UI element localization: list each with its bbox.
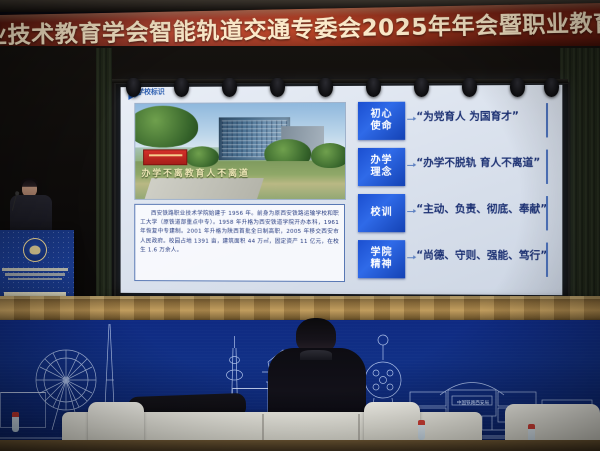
quote-text: “尚德、守则、强能、笃行” [416,248,546,263]
list-item: 学院 精神 “尚德、守则、强能、笃行” [358,238,550,285]
podium-text-line [2,268,68,271]
tag-line-1: 学院 [371,247,393,259]
stage-lamp [544,78,559,97]
list-item: 办学 理念 “办学不脱轨 育人不离道” [358,146,550,192]
tag-box: 学院 精神 [358,240,405,278]
stage-lamp [510,78,525,97]
side-table [0,392,46,428]
accent-line [546,243,548,277]
stage-lamp [414,78,429,97]
water-bottle [418,420,425,440]
photo-tree [185,146,218,167]
photo-tree [311,143,346,168]
campus-photo: 办学不离教育人不离道 [134,102,346,200]
seated-person-collar [300,350,332,360]
stage-lamp [174,78,189,97]
quote-text: “办学不脱轨 育人不离道” [416,156,546,170]
quote-text: “为党育人 为国育才” [416,109,546,124]
photo-walkway [144,178,264,199]
photo-tree [134,106,197,148]
tag-box: 办学 理念 [358,148,405,186]
slide-paragraph-text: 西安铁路职业技术学院始建于 1956 年。前身为原西安铁路运输学校和职工大学（原… [140,210,339,256]
stage-lamp [462,78,477,97]
arrow-icon [407,211,414,212]
slide-paragraph-box: 西安铁路职业技术学院始建于 1956 年。前身为原西安铁路运输学校和职工大学（原… [134,204,345,282]
tag-box: 初心 使命 [358,102,405,140]
tag-box: 校训 [358,194,405,232]
wooden-stage-band [0,296,600,322]
slide-values-list: 初心 使命 “为党育人 为国育才” 办学 理念 “办学不脱轨 育人不离道” 校训 [358,99,550,285]
curtain-left [96,48,112,333]
photo-red-sign [144,149,188,165]
list-item: 初心 使命 “为党育人 为国育才” [358,99,550,146]
stage-lamp [270,78,285,97]
tag-line-1: 初心 [371,109,393,121]
wood-highlight [0,296,600,299]
stage-lamp [318,78,333,97]
tag-line-2: 使命 [371,121,393,133]
projection-screen: 学校标识 办学不离教育人不离道 西安铁路职业技术学院始建于 1956 年。前身为… [121,85,563,295]
stage-light-rail [112,78,568,100]
stage-lamp [126,78,141,97]
conference-hall-scene: 业技术教育学会智能轨道交通专委会2025年年会暨职业教育智能轨道交通教 学校标识… [0,0,600,451]
arrow-icon [407,257,414,258]
arrow-icon [407,119,414,120]
arrow-icon [407,165,414,166]
tag-line-2: 精神 [371,259,393,271]
tag-line-1: 办学 [371,155,393,167]
podium-emblem-icon [23,238,47,262]
stage-floor [0,440,600,451]
accent-line [546,196,548,230]
accent-line [546,150,548,184]
quote-text: “主动、负责、彻底、奉献” [416,202,546,216]
podium-text-line [8,278,61,281]
photo-hedge-text: 办学不离教育人不离道 [141,166,271,179]
water-bottle [12,412,19,432]
stage-lamp [366,78,381,97]
podium-text-line [5,273,64,276]
stage-lamp [222,78,237,97]
tag-line-1: 校训 [371,207,393,219]
accent-line [546,103,548,137]
tag-line-2: 理念 [371,167,393,179]
list-item: 校训 “主动、负责、彻底、奉献” [358,192,550,239]
